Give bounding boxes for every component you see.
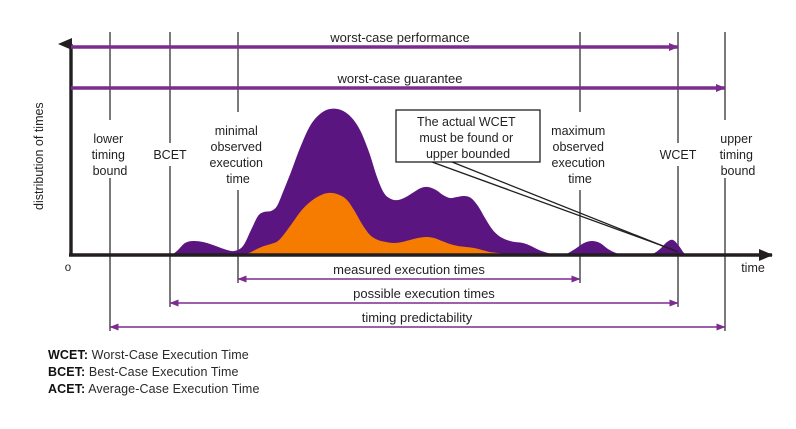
y-axis-label: distribution of times bbox=[32, 102, 46, 210]
label-measured-execution-times: measured execution times bbox=[333, 262, 485, 277]
label-wcet: WCET bbox=[660, 148, 697, 162]
bottom-arrows-group: measured execution times possible execut… bbox=[110, 262, 725, 327]
abbreviation-legend: WCET: Worst-Case Execution Time BCET: Be… bbox=[48, 347, 260, 398]
origin-label: o bbox=[65, 262, 71, 274]
x-axis-label: time bbox=[741, 261, 765, 275]
label-worst-case-guarantee: worst-case guarantee bbox=[336, 71, 462, 86]
label-possible-execution-times: possible execution times bbox=[353, 286, 495, 301]
callout-text: The actual WCET must be found or upper b… bbox=[417, 115, 519, 161]
legend-item-wcet: WCET: Worst-Case Execution Time bbox=[48, 347, 260, 364]
legend-text-bcet: Best-Case Execution Time bbox=[85, 365, 238, 379]
label-lower-timing-bound: lower timing bound bbox=[92, 132, 129, 178]
legend-item-bcet: BCET: Best-Case Execution Time bbox=[48, 364, 260, 381]
label-bcet: BCET bbox=[153, 148, 187, 162]
legend-abbr-wcet: WCET: bbox=[48, 348, 88, 362]
legend-abbr-bcet: BCET: bbox=[48, 365, 85, 379]
legend-abbr-acet: ACET: bbox=[48, 382, 85, 396]
label-timing-predictability: timing predictability bbox=[362, 310, 473, 325]
top-arrows-group: worst-case performance worst-case guaran… bbox=[71, 30, 725, 88]
legend-item-acet: ACET: Average-Case Execution Time bbox=[48, 381, 260, 398]
label-maximum-observed-execution-time: maximum observed execution time bbox=[551, 124, 609, 186]
label-upper-timing-bound: upper timing bound bbox=[720, 132, 757, 178]
label-minimal-observed-execution-time: minimal observed execution time bbox=[210, 124, 267, 186]
legend-text-acet: Average-Case Execution Time bbox=[85, 382, 259, 396]
legend-text-wcet: Worst-Case Execution Time bbox=[88, 348, 249, 362]
label-worst-case-performance: worst-case performance bbox=[329, 30, 469, 45]
